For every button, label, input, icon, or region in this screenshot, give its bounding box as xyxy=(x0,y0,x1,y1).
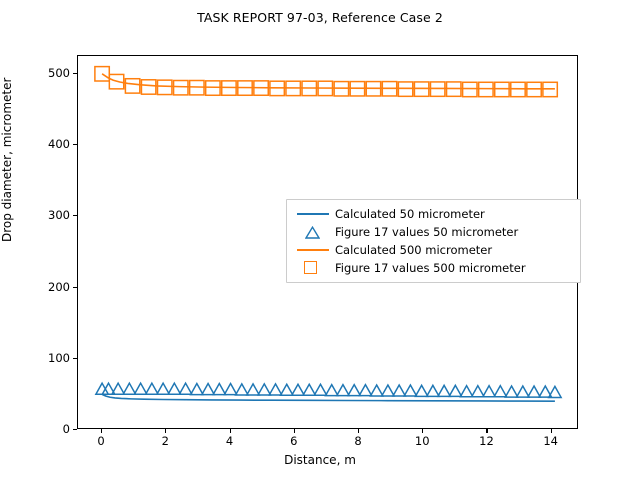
x-tick-label: 0 xyxy=(97,434,104,448)
marker-triangle xyxy=(314,384,326,395)
marker-triangle xyxy=(202,384,214,395)
marker-triangle xyxy=(96,383,108,394)
marker-triangle xyxy=(382,385,394,396)
marker-square xyxy=(174,81,188,95)
marker-triangle xyxy=(494,386,506,397)
marker-square xyxy=(141,80,155,94)
marker-triangle xyxy=(236,384,248,395)
marker-triangle xyxy=(146,383,158,394)
marker-square xyxy=(125,79,139,93)
marker-triangle xyxy=(168,383,180,394)
legend-item-calculated-500: Calculated 500 micrometer xyxy=(293,241,574,259)
x-tick-label: 6 xyxy=(290,434,297,448)
marker-triangle xyxy=(134,383,146,394)
marker-triangle xyxy=(348,385,360,396)
legend-key-line-blue xyxy=(293,205,333,223)
y-tick-label: 300 xyxy=(48,208,70,222)
figure-canvas: TASK REPORT 97-03, Reference Case 2 Drop… xyxy=(0,0,640,480)
x-tick-label: 12 xyxy=(479,434,494,448)
marker-triangle xyxy=(269,384,281,395)
marker-triangle xyxy=(157,383,169,394)
x-tick-label: 8 xyxy=(354,434,361,448)
y-tick-mark xyxy=(73,429,77,430)
legend-item-figure17-500: Figure 17 values 500 micrometer xyxy=(293,259,574,277)
legend-label-calculated-50: Calculated 50 micrometer xyxy=(333,207,485,221)
marker-square xyxy=(463,82,477,96)
marker-triangle xyxy=(438,385,450,396)
marker-triangle xyxy=(179,383,191,394)
legend-label-calculated-500: Calculated 500 micrometer xyxy=(333,243,492,257)
y-tick-label: 200 xyxy=(48,280,70,294)
marker-triangle xyxy=(505,386,517,397)
legend-item-calculated-50: Calculated 50 micrometer xyxy=(293,205,574,223)
marker-triangle xyxy=(460,386,472,397)
marker-triangle xyxy=(427,385,439,396)
x-tick-label: 14 xyxy=(543,434,558,448)
marker-triangle xyxy=(370,385,382,396)
y-tick-label: 0 xyxy=(63,422,70,436)
marker-triangle xyxy=(449,385,461,396)
marker-triangle xyxy=(123,383,135,394)
marker-triangle xyxy=(359,385,371,396)
marker-triangle xyxy=(281,384,293,395)
marker-triangle xyxy=(213,384,225,395)
marker-triangle xyxy=(393,385,405,396)
y-axis-label: Drop diameter, micrometer xyxy=(0,78,14,242)
marker-triangle xyxy=(483,386,495,397)
series-1 xyxy=(96,383,561,397)
legend-item-figure17-50: Figure 17 values 50 micrometer xyxy=(293,223,574,241)
chart-title: TASK REPORT 97-03, Reference Case 2 xyxy=(0,10,640,25)
marker-triangle xyxy=(415,385,427,396)
legend-label-figure17-50: Figure 17 values 50 micrometer xyxy=(333,225,518,239)
x-axis-label: Distance, m xyxy=(0,453,640,467)
y-tick-label: 100 xyxy=(48,351,70,365)
chart-legend: Calculated 50 micrometer Figure 17 value… xyxy=(286,199,581,283)
x-tick-label: 2 xyxy=(162,434,169,448)
marker-triangle xyxy=(472,386,484,397)
x-tick-label: 10 xyxy=(415,434,430,448)
legend-key-line-orange xyxy=(293,241,333,259)
x-tick-label: 4 xyxy=(226,434,233,448)
square-icon xyxy=(304,261,317,274)
legend-key-triangle-blue xyxy=(293,223,333,241)
series-3 xyxy=(95,67,557,97)
marker-square xyxy=(95,67,109,81)
marker-square xyxy=(158,80,172,94)
marker-triangle xyxy=(247,384,259,395)
legend-key-square-orange xyxy=(293,259,333,277)
marker-triangle xyxy=(224,384,236,395)
marker-triangle xyxy=(337,385,349,396)
marker-triangle xyxy=(303,384,315,395)
marker-triangle xyxy=(292,384,304,395)
marker-triangle xyxy=(258,384,270,395)
marker-triangle xyxy=(528,386,540,397)
marker-square xyxy=(479,82,493,96)
marker-triangle xyxy=(404,385,416,396)
marker-triangle xyxy=(191,384,203,395)
legend-label-figure17-500: Figure 17 values 500 micrometer xyxy=(333,261,526,275)
triangle-icon xyxy=(305,226,320,239)
y-tick-label: 500 xyxy=(48,66,70,80)
y-tick-label: 400 xyxy=(48,137,70,151)
marker-triangle xyxy=(326,385,338,396)
marker-triangle xyxy=(517,386,529,397)
